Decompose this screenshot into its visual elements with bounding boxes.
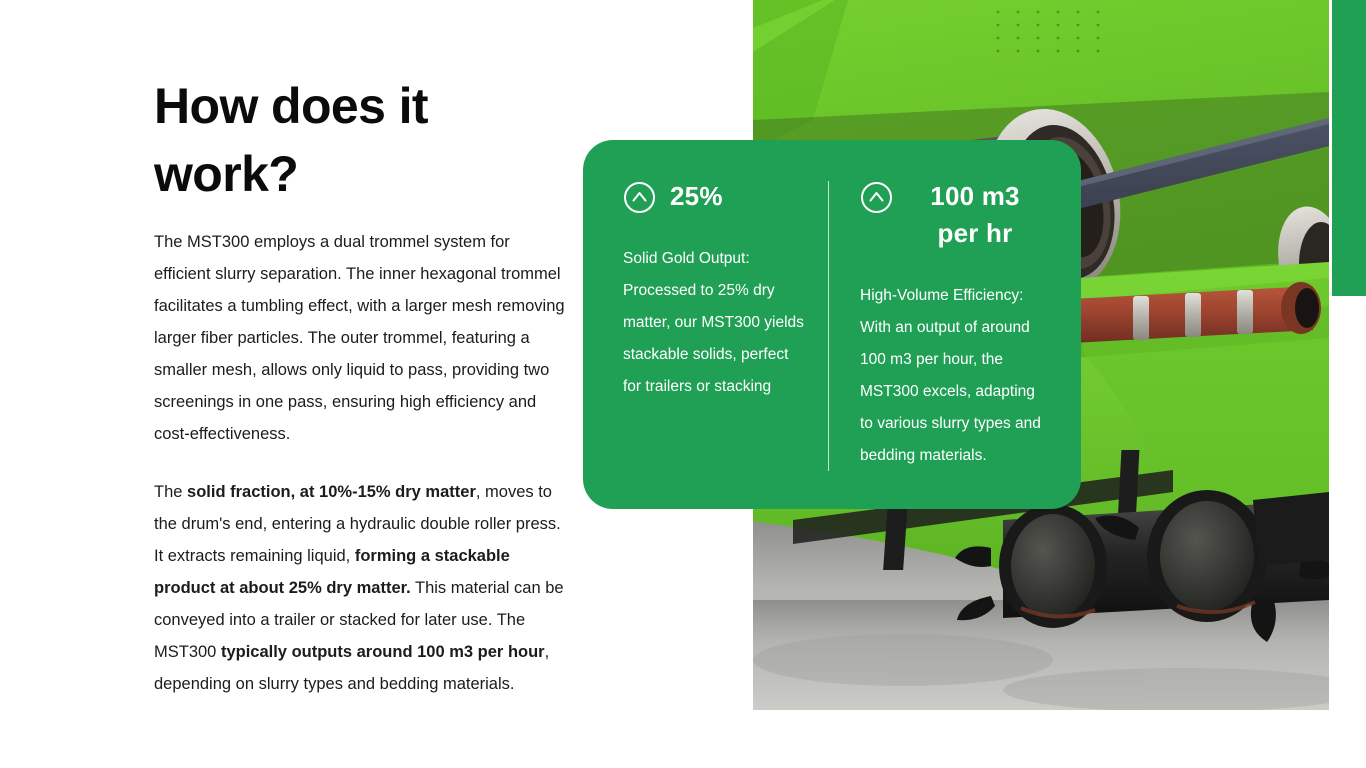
stats-card: 25% Solid Gold Output: Processed to 25% … (583, 140, 1081, 509)
slide-root: How does it work? The MST300 employs a d… (0, 0, 1366, 768)
stat-description: High-Volume Efficiency: With an output o… (860, 280, 1043, 472)
stat-header: 100 m3 per hr (860, 178, 1043, 252)
paragraph-1: The MST300 employs a dual trommel system… (154, 226, 566, 450)
stat-block-output: 25% Solid Gold Output: Processed to 25% … (613, 178, 828, 479)
stat-description: Solid Gold Output: Processed to 25% dry … (623, 243, 806, 403)
stat-header: 25% (623, 178, 806, 215)
stat-value: 100 m3 per hr (907, 178, 1043, 252)
page-title: How does it work? (154, 72, 566, 208)
paragraph-2: The solid fraction, at 10%-15% dry matte… (154, 476, 566, 700)
stat-value: 25% (670, 178, 723, 215)
accent-bar (1332, 0, 1366, 296)
circle-chevron-up-icon (623, 181, 656, 214)
circle-chevron-up-icon (860, 181, 893, 214)
body-copy: The MST300 employs a dual trommel system… (154, 226, 566, 700)
stat-block-throughput: 100 m3 per hr High-Volume Efficiency: Wi… (828, 178, 1051, 479)
text-column: How does it work? The MST300 employs a d… (154, 72, 566, 700)
